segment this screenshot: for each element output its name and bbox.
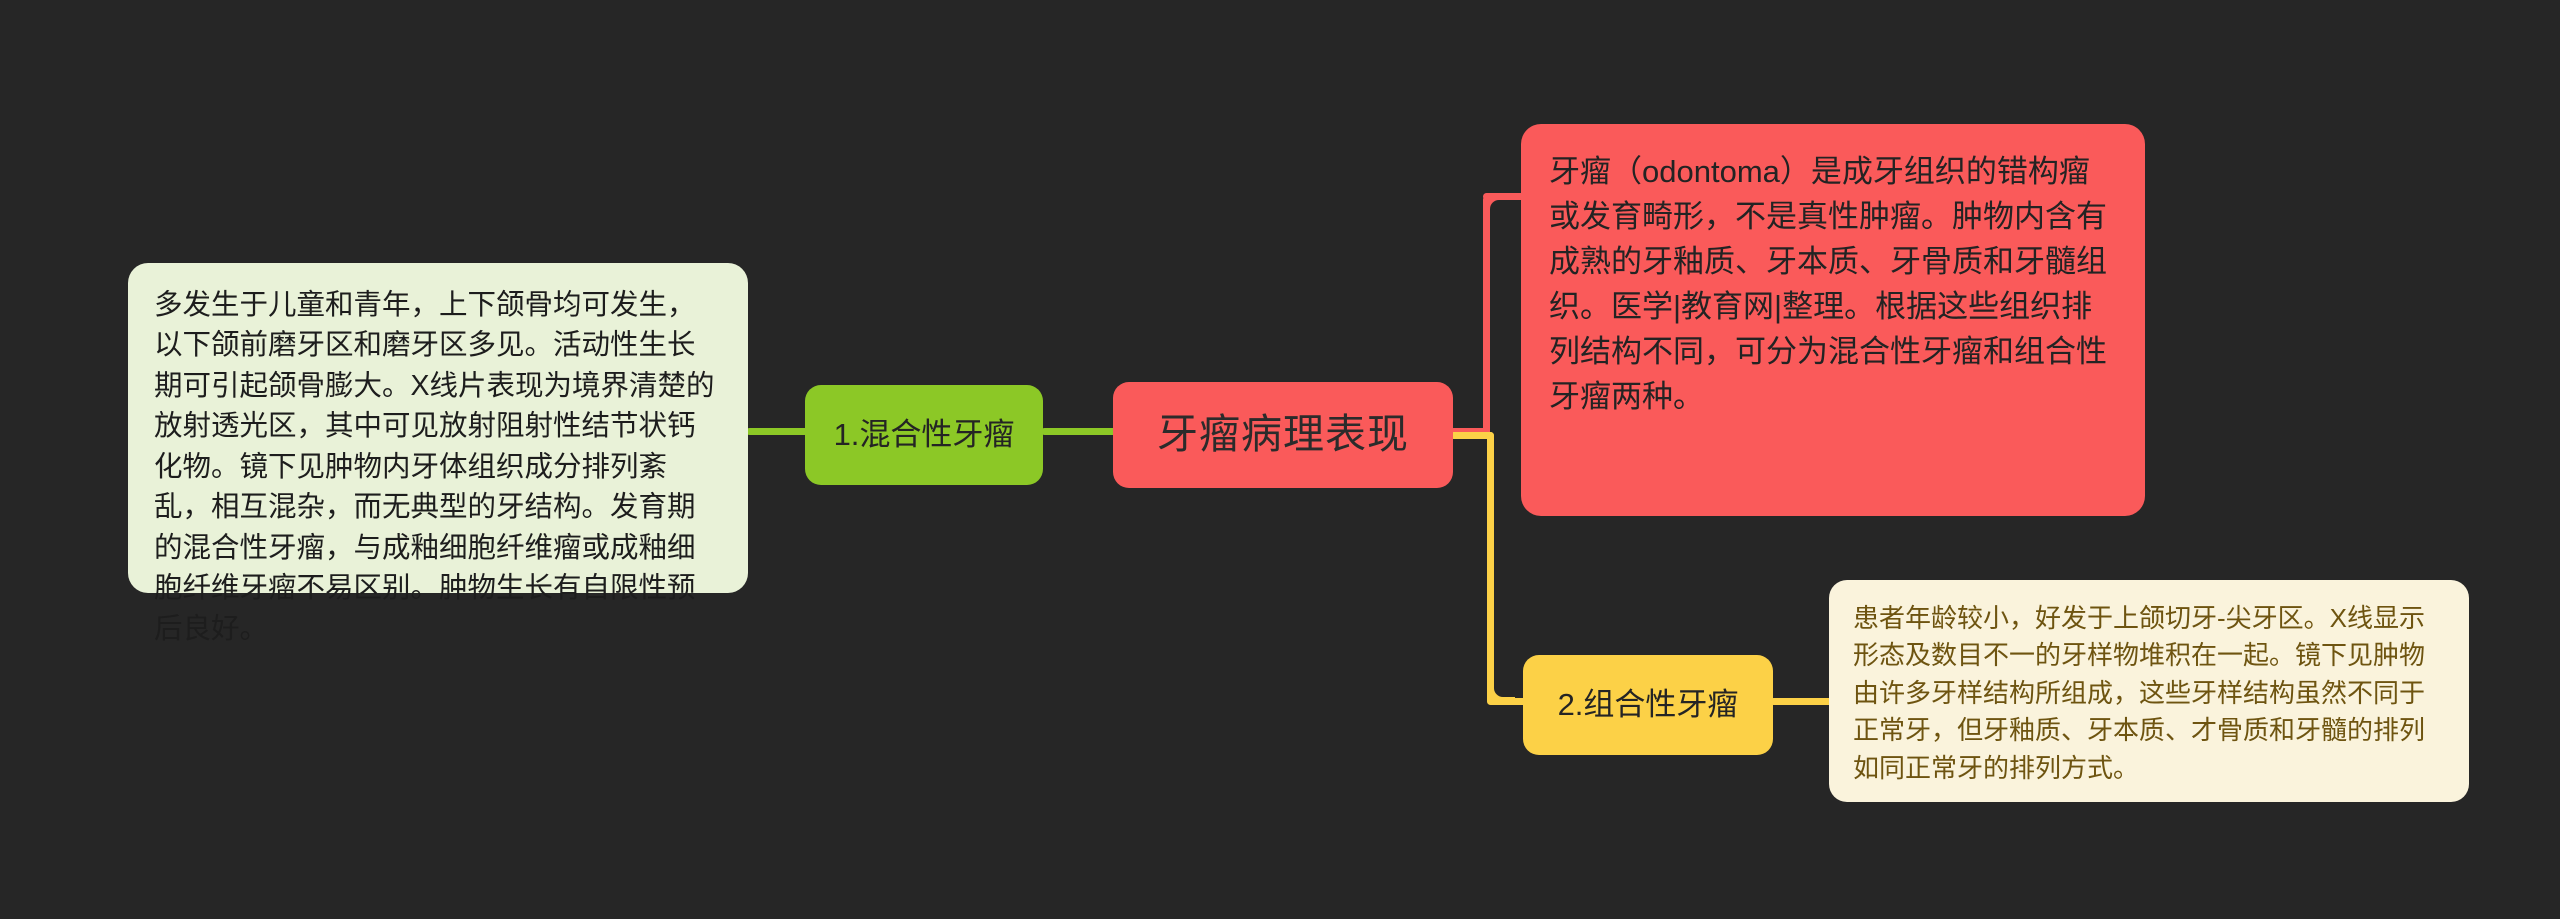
central-node-label: 牙瘤病理表现 <box>1157 412 1409 457</box>
mindmap-canvas: 牙瘤病理表现 1.混合性牙瘤 2.组合性牙瘤 多发生于儿童和青年，上下颌骨均可发… <box>0 0 2560 919</box>
leaf-compound-odontoma-text: 患者年龄较小，好发于上颌切牙-尖牙区。X线显示形态及数目不一的牙样物堆积在一起。… <box>1853 600 2445 787</box>
branch-node-mixed-odontoma-label: 1.混合性牙瘤 <box>834 418 1015 452</box>
leaf-mixed-odontoma-description[interactable]: 多发生于儿童和青年，上下颌骨均可发生，以下颌前磨牙区和磨牙区多见。活动性生长期可… <box>128 263 748 593</box>
branch-node-compound-odontoma[interactable]: 2.组合性牙瘤 <box>1523 655 1773 755</box>
connector-leaf-mixed-to-branch-1 <box>746 428 808 435</box>
branch-node-mixed-odontoma[interactable]: 1.混合性牙瘤 <box>805 385 1043 485</box>
connector-central-to-branch-2-drop <box>1487 432 1494 704</box>
leaf-mixed-odontoma-text: 多发生于儿童和青年，上下颌骨均可发生，以下颌前磨牙区和磨牙区多见。活动性生长期可… <box>154 285 722 649</box>
leaf-compound-odontoma-description[interactable]: 患者年龄较小，好发于上颌切牙-尖牙区。X线显示形态及数目不一的牙样物堆积在一起。… <box>1829 580 2469 802</box>
connector-branch-1-to-central <box>1041 428 1117 435</box>
connector-central-to-definition-riser <box>1483 196 1490 435</box>
connector-central-to-definition-corner <box>1483 193 1511 221</box>
leaf-odontoma-definition-text: 牙瘤（odontoma）是成牙组织的错构瘤或发育畸形，不是真性肿瘤。肿物内含有成… <box>1549 150 2117 420</box>
connector-branch-2-to-leaf-compound <box>1770 698 1835 705</box>
leaf-odontoma-definition[interactable]: 牙瘤（odontoma）是成牙组织的错构瘤或发育畸形，不是真性肿瘤。肿物内含有成… <box>1521 124 2145 516</box>
central-node[interactable]: 牙瘤病理表现 <box>1113 382 1453 488</box>
branch-node-compound-odontoma-label: 2.组合性牙瘤 <box>1558 688 1739 722</box>
